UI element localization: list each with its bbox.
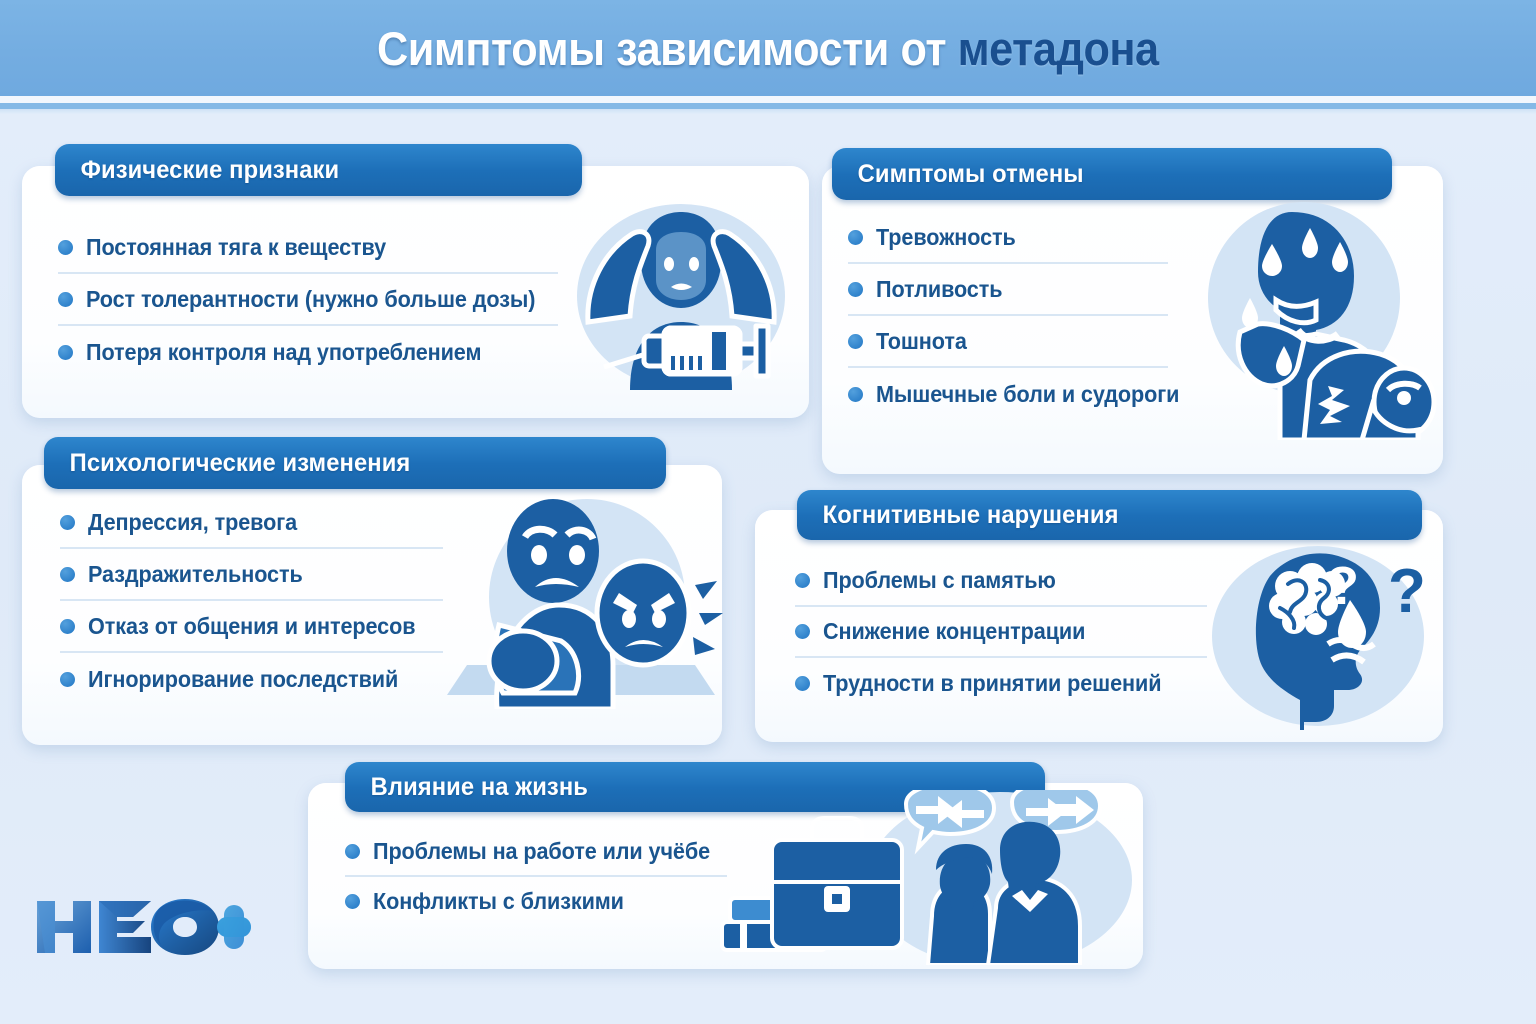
page-title: Симптомы зависимости от метадона — [377, 21, 1159, 76]
sad-angry-faces-isolation-icon — [437, 489, 727, 709]
person-head-clutch-syringe-icon — [570, 194, 792, 390]
head-brain-question-marks-icon: ? ? — [1208, 540, 1440, 730]
bullet-dot-icon — [345, 844, 360, 859]
list-item: Проблемы с памятью — [795, 556, 1207, 607]
list-item: Проблемы на работе или учёбе — [345, 828, 727, 877]
list-item-label: Потеря контроля над употреблением — [86, 339, 481, 366]
list-item: Потеря контроля над употреблением — [58, 326, 558, 378]
header-divider-fade — [0, 109, 1536, 114]
page-title-main: Симптомы зависимости от — [377, 22, 958, 75]
list-item: Тошнота — [848, 316, 1168, 368]
bullet-dot-icon — [795, 676, 810, 691]
card-title-cognitive-impairments: Когнитивные нарушения — [797, 501, 1119, 530]
list-withdrawal-symptoms: Тревожность Потливость Тошнота Мышечные … — [848, 212, 1168, 420]
list-item: Трудности в принятии решений — [795, 658, 1207, 709]
brand-logo-neo-plus — [33, 893, 253, 959]
list-item-label: Потливость — [876, 276, 1002, 303]
bullet-dot-icon — [60, 672, 75, 687]
list-item-label: Тревожность — [876, 224, 1016, 251]
list-item-label: Проблемы с памятью — [823, 567, 1056, 594]
list-life-impact: Проблемы на работе или учёбе Конфликты с… — [345, 828, 727, 926]
header-divider-light — [0, 96, 1536, 103]
list-item-label: Снижение концентрации — [823, 618, 1085, 645]
bullet-dot-icon — [848, 230, 863, 245]
list-item: Рост толерантности (нужно больше дозы) — [58, 274, 558, 326]
list-item-label: Трудности в принятии решений — [823, 670, 1161, 697]
list-psychological-changes: Депрессия, тревога Раздражительность Отк… — [60, 497, 443, 705]
card-header-psychological-changes: Психологические изменения — [44, 437, 666, 489]
card-header-physical-signs: Физические признаки — [55, 144, 582, 196]
list-item-label: Рост толерантности (нужно больше дозы) — [86, 286, 535, 313]
list-item-label: Проблемы на работе или учёбе — [373, 838, 710, 865]
svg-text:?: ? — [1388, 557, 1426, 626]
svg-text:?: ? — [1326, 556, 1359, 616]
list-item-label: Тошнота — [876, 328, 967, 355]
list-item: Тревожность — [848, 212, 1168, 264]
card-title-physical-signs: Физические признаки — [55, 156, 339, 185]
bullet-dot-icon — [60, 619, 75, 634]
bullet-dot-icon — [60, 515, 75, 530]
bullet-dot-icon — [58, 240, 73, 255]
list-item-label: Мышечные боли и судороги — [876, 381, 1179, 408]
bullet-dot-icon — [848, 282, 863, 297]
bullet-dot-icon — [848, 334, 863, 349]
list-item-label: Игнорирование последствий — [88, 666, 398, 693]
bullet-dot-icon — [848, 387, 863, 402]
list-item-label: Раздражительность — [88, 561, 303, 588]
page-title-accent: метадона — [958, 22, 1159, 75]
card-title-withdrawal-symptoms: Симптомы отмены — [832, 160, 1084, 189]
card-title-life-impact: Влияние на жизнь — [345, 773, 588, 802]
list-physical-signs: Постоянная тяга к веществу Рост толерант… — [58, 222, 558, 378]
list-item-label: Постоянная тяга к веществу — [86, 234, 386, 261]
list-item: Мышечные боли и судороги — [848, 368, 1220, 420]
card-header-cognitive-impairments: Когнитивные нарушения — [797, 490, 1422, 540]
bullet-dot-icon — [795, 624, 810, 639]
card-title-psychological-changes: Психологические изменения — [44, 449, 410, 478]
briefcase-books-conflict-couple-icon — [700, 790, 1140, 965]
list-item: Раздражительность — [60, 549, 443, 601]
list-item: Игнорирование последствий — [60, 653, 443, 705]
bullet-dot-icon — [58, 292, 73, 307]
list-item-label: Депрессия, тревога — [88, 509, 297, 536]
list-item: Депрессия, тревога — [60, 497, 443, 549]
list-item: Конфликты с близкими — [345, 877, 727, 926]
list-item-label: Конфликты с близкими — [373, 888, 624, 915]
list-item: Постоянная тяга к веществу — [58, 222, 558, 274]
sweating-person-cramps-icon — [1192, 190, 1440, 440]
list-item: Потливость — [848, 264, 1168, 316]
page-header: Симптомы зависимости от метадона — [0, 0, 1536, 96]
bullet-dot-icon — [60, 567, 75, 582]
list-cognitive-impairments: Проблемы с памятью Снижение концентрации… — [795, 556, 1207, 709]
bullet-dot-icon — [345, 894, 360, 909]
list-item: Отказ от общения и интересов — [60, 601, 443, 653]
list-item-label: Отказ от общения и интересов — [88, 613, 415, 640]
bullet-dot-icon — [795, 573, 810, 588]
bullet-dot-icon — [58, 345, 73, 360]
list-item: Снижение концентрации — [795, 607, 1207, 658]
